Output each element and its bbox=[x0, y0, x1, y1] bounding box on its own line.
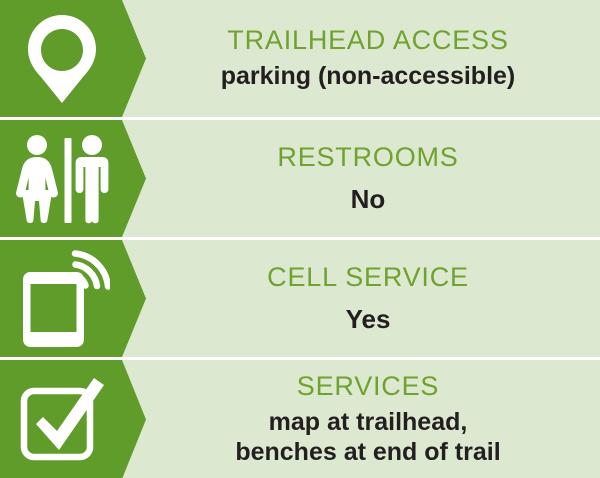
facility-row-trailhead-access: TRAILHEAD ACCESS parking (non-accessible… bbox=[0, 0, 600, 117]
facility-row-restrooms: RESTROOMS No bbox=[0, 120, 600, 237]
facility-heading: SERVICES bbox=[297, 372, 439, 401]
facility-heading: CELL SERVICE bbox=[267, 263, 469, 292]
facility-heading: RESTROOMS bbox=[277, 143, 458, 172]
facility-text-column: SERVICES map at trailhead, benches at en… bbox=[150, 360, 600, 478]
facility-row-services: SERVICES map at trailhead, benches at en… bbox=[0, 360, 600, 478]
facility-text-column: RESTROOMS No bbox=[150, 120, 600, 237]
facility-row-cell-service: CELL SERVICE Yes bbox=[0, 240, 600, 357]
chevron-block bbox=[0, 120, 146, 237]
facility-value: No bbox=[351, 184, 386, 214]
facility-text-column: CELL SERVICE Yes bbox=[150, 240, 600, 357]
chevron-block bbox=[0, 0, 146, 117]
facility-value: parking (non-accessible) bbox=[221, 62, 516, 91]
facility-text-column: TRAILHEAD ACCESS parking (non-accessible… bbox=[150, 0, 600, 117]
chevron-block bbox=[0, 240, 146, 357]
facility-value: map at trailhead, benches at end of trai… bbox=[235, 407, 500, 467]
facility-heading: TRAILHEAD ACCESS bbox=[227, 26, 508, 55]
facility-value: Yes bbox=[346, 304, 391, 334]
trail-facilities-infographic: TRAILHEAD ACCESS parking (non-accessible… bbox=[0, 0, 600, 478]
chevron-block bbox=[0, 360, 146, 478]
